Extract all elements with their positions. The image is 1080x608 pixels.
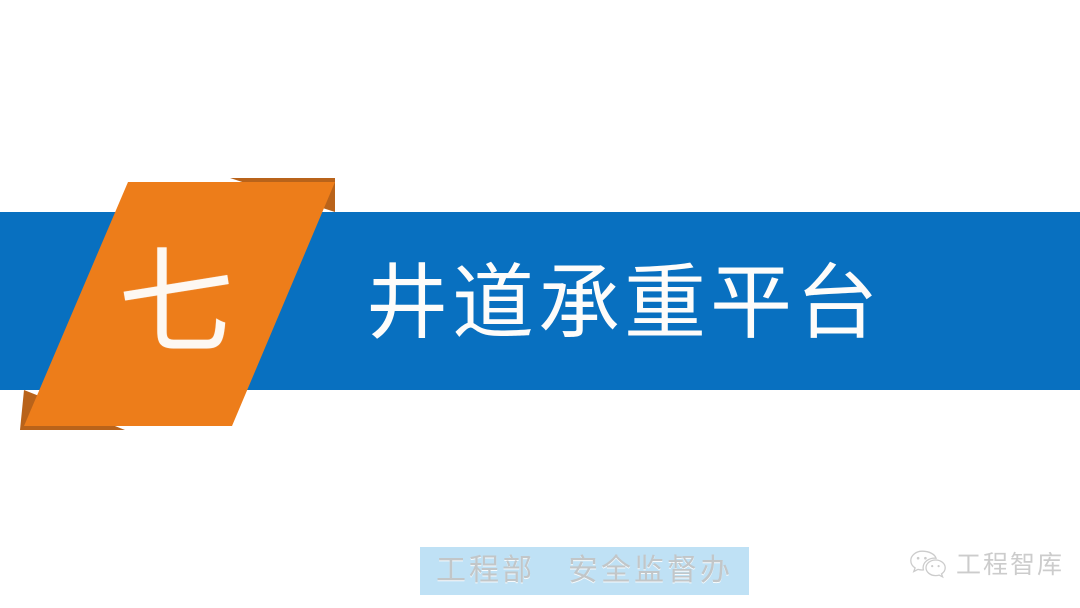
badge-parallelogram (24, 182, 335, 426)
banner-title: 井道承重平台 (366, 252, 882, 356)
department-caption-text: 工程部 安全监督办 (436, 556, 733, 586)
banner-title-text: 井道承重平台 (366, 263, 882, 345)
section-number-badge (0, 178, 360, 430)
wechat-watermark: 工程智库 (909, 542, 1064, 586)
wechat-watermark-text: 工程智库 (956, 552, 1064, 577)
department-caption: 工程部 安全监督办 (420, 547, 749, 595)
wechat-icon (909, 548, 947, 580)
slide-canvas: 七 井道承重平台 工程部 安全监督办 工程智库 (0, 0, 1080, 608)
wechat-icon-glyph (909, 548, 947, 580)
badge-shape (0, 178, 360, 430)
